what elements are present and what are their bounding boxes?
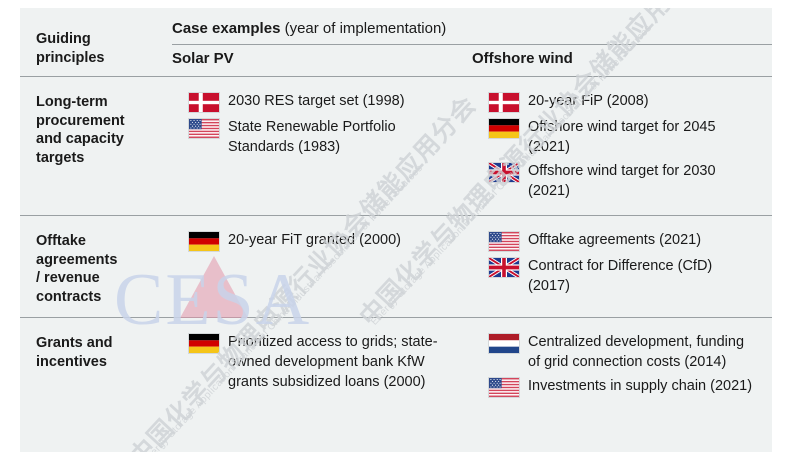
list-item-label: Centralized development, funding of grid… [520,332,758,372]
usa-flag-icon [188,118,220,139]
list-item: Contract for Difference (CfD) (2017) [488,256,758,296]
list-item: 20-year FiT granted (2000) [188,230,458,252]
list-item: Offshore wind target for 2030 (2021) [488,161,758,201]
list-item-label: Investments in supply chain (2021) [520,376,752,396]
list-item: Offshore wind target for 2045 (2021) [488,117,758,157]
row-offshore-cell: Offtake agreements (2021) [472,215,772,317]
header-guiding-principles-line1: Guiding [36,30,162,49]
list-item: State Renewable Portfolio Standards (198… [188,117,458,157]
list-item-label: State Renewable Portfolio Standards (198… [220,117,458,157]
table-header-row-case-examples: Guiding principles Case examples (year o… [20,8,772,44]
row-principle-line: procurement [36,112,162,131]
table-row: Long-term procurement and capacity targe… [20,76,772,215]
germany-flag-icon [188,231,220,252]
row-principle-label: Grants and incentives [20,318,172,413]
row-principle-line: contracts [36,288,162,307]
comparison-table-panel: 中国化学与物理电源行业协会储能应用分会 Energy Storage Appli… [20,8,772,452]
list-item-label: Contract for Difference (CfD) (2017) [520,256,758,296]
row-offshore-cell: 20-year FiP (2008) Offshore wind target [472,76,772,215]
row-solar-cell: Prioritized access to grids; state-owned… [172,318,472,413]
list-item-label: 2030 RES target set (1998) [220,91,405,111]
row-principle-line: targets [36,149,162,168]
row-offshore-cell: Centralized development, funding of grid… [472,318,772,413]
list-item: 20-year FiP (2008) [488,91,758,113]
header-case-examples: Case examples (year of implementation) [172,8,772,44]
guiding-principles-table: Guiding principles Case examples (year o… [20,8,772,412]
netherlands-flag-icon [488,333,520,354]
list-item-label: Offshore wind target for 2030 (2021) [520,161,758,201]
header-case-examples-note: (year of implementation) [280,20,446,37]
row-solar-cell: 20-year FiT granted (2000) [172,215,472,317]
usa-flag-icon [488,377,520,398]
germany-flag-icon [488,118,520,139]
uk-flag-icon [488,257,520,278]
list-item-label: Prioritized access to grids; state-owned… [220,332,458,392]
header-case-examples-bold: Case examples [172,20,280,37]
list-item-label: Offshore wind target for 2045 (2021) [520,117,758,157]
denmark-flag-icon [488,92,520,113]
row-principle-line: incentives [36,353,162,372]
list-item: Prioritized access to grids; state-owned… [188,332,458,392]
usa-flag-icon [488,231,520,252]
header-guiding-principles: Guiding principles [20,8,172,76]
denmark-flag-icon [188,92,220,113]
row-principle-line: / revenue [36,269,162,288]
header-guiding-principles-line2: principles [36,49,162,68]
row-principle-line: Offtake [36,232,162,251]
list-item: 2030 RES target set (1998) [188,91,458,113]
list-item-label: 20-year FiP (2008) [520,91,649,111]
header-column-offshore-wind: Offshore wind [472,44,772,76]
list-item: Centralized development, funding of grid… [488,332,758,372]
list-item: Offtake agreements (2021) [488,230,758,252]
row-solar-cell: 2030 RES target set (1998) [172,76,472,215]
list-item: Investments in supply chain (2021) [488,376,758,398]
row-principle-label: Offtake agreements / revenue contracts [20,215,172,317]
list-item-label: 20-year FiT granted (2000) [220,230,401,250]
table-row: Offtake agreements / revenue contracts [20,215,772,317]
list-item-label: Offtake agreements (2021) [520,230,701,250]
table-row: Grants and incentives [20,318,772,413]
screenshot-root: 中国化学与物理电源行业协会储能应用分会 Energy Storage Appli… [0,0,800,468]
germany-flag-icon [188,333,220,354]
header-column-solar-pv: Solar PV [172,44,472,76]
row-principle-label: Long-term procurement and capacity targe… [20,76,172,215]
row-principle-line: Long-term [36,93,162,112]
row-principle-line: and capacity [36,130,162,149]
row-principle-line: agreements [36,251,162,270]
uk-flag-icon [488,162,520,183]
row-principle-line: Grants and [36,334,162,353]
